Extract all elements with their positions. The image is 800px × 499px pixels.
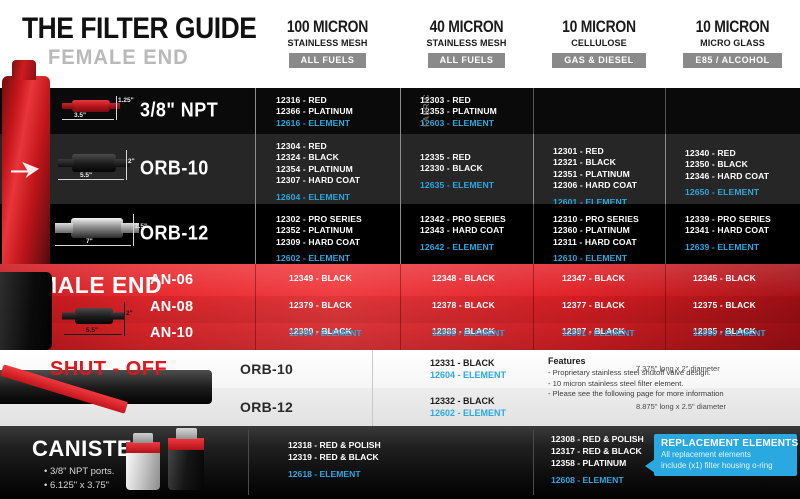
cell-10-micron-cellulose: [553, 88, 665, 134]
table-row-an-06: AN-06 12349 - BLACK 12348 - BLACK 12347 …: [0, 269, 800, 296]
part-number: 12351 - PLATINUM: [553, 169, 665, 180]
part-number: 12339 - PRO SERIES: [685, 214, 800, 225]
cell-100-micron: 12316 - RED 12366 - PLATINUM 12616 - ELE…: [276, 88, 400, 134]
feature-item: - Proprietary stainless steel shutoff va…: [548, 368, 724, 379]
part-number: 12347 - BLACK: [562, 273, 625, 283]
part-number: 12303 - RED: [420, 95, 533, 106]
row-label: ORB-12: [240, 399, 293, 415]
part-number: 12318 - RED & POLISH: [288, 440, 381, 452]
product-image-orb12-filter: [55, 216, 139, 240]
part-number: 12350 - BLACK: [685, 159, 800, 170]
column-divider: [400, 88, 401, 134]
part-number-element: 12610 - ELEMENT: [553, 253, 665, 264]
part-number: 12321 - BLACK: [553, 157, 665, 168]
column-media-label: STAINLESS MESH: [403, 38, 529, 49]
title-bar: THE FILTER GUIDE FEMALE END 100 MICRON S…: [0, 0, 800, 88]
part-number-element: 12604 - ELEMENT: [430, 370, 506, 380]
cell-40-micron: 12335 - RED 12330 - BLACK 12635 - ELEMEN…: [420, 134, 533, 204]
part-number: 12335 - RED: [420, 152, 533, 163]
row-label: AN-10: [150, 325, 193, 341]
male-end-section: MALE END AN-06 12349 - BLACK 12348 - BLA…: [0, 264, 800, 350]
dimension-diameter: 2": [126, 310, 133, 317]
table-row-orb-10: ORB-10 12304 - RED 12324 - BLACK 12354 -…: [0, 134, 800, 204]
part-number-element: 12604 - ELEMENT: [276, 192, 400, 203]
part-number: 12324 - BLACK: [276, 152, 400, 163]
column-micron-label: 10 MICRON: [677, 18, 788, 35]
cell-10-micron-micro-glass: 12340 - RED 12350 - BLACK 12346 - HARD C…: [685, 134, 800, 204]
column-divider: [372, 350, 373, 426]
part-number: 12310 - PRO SERIES: [553, 214, 665, 225]
cell-40-micron: FABRIC 12303 - RED 12353 - PLATINUM 1260…: [420, 88, 533, 134]
part-number-element: 12602 - ELEMENT: [430, 408, 506, 418]
part-number: 12360 - PLATINUM: [553, 225, 665, 236]
part-number: 12378 - BLACK: [432, 300, 495, 310]
part-number: 12307 - HARD COAT: [276, 175, 400, 186]
features-title: Features: [548, 356, 724, 366]
part-number: 12311 - HARD COAT: [553, 237, 665, 248]
part-number-element: 12650 - ELEMENT: [685, 187, 800, 198]
column-divider: [533, 430, 534, 495]
features-block: Features - Proprietary stainless steel s…: [548, 356, 724, 400]
part-number: 12316 - RED: [276, 95, 400, 106]
cell-40-micron: 12342 - PRO SERIES 12343 - HARD COAT 126…: [420, 204, 533, 264]
part-number: 12319 - RED & BLACK: [288, 452, 379, 464]
cell-10-micron-micro-glass: [685, 88, 800, 134]
part-number-element: 12618 - ELEMENT: [288, 469, 361, 481]
row-label: 3/8" NPT: [140, 100, 218, 123]
replacement-elements-callout: REPLACEMENT ELEMENTS All replacement ele…: [654, 434, 797, 476]
part-number: 12354 - PLATINUM: [276, 164, 400, 175]
part-number: 12366 - PLATINUM: [276, 106, 400, 117]
column-micron-label: 10 MICRON: [545, 18, 653, 35]
section-title-female-end: FEMALE END: [48, 46, 189, 70]
product-image-npt-filter: [62, 98, 120, 114]
dimension-length: 5.5": [86, 327, 98, 334]
column-divider: [248, 430, 249, 495]
part-number-element: 12602 - ELEMENT: [276, 253, 400, 264]
column-divider: [665, 134, 666, 204]
dimension-length: 7": [86, 238, 93, 245]
column-divider: [255, 204, 256, 264]
product-image-canister-polish: [126, 442, 160, 490]
part-number: 12331 - BLACK: [430, 358, 495, 368]
column-divider: [400, 134, 401, 204]
part-number-element: 12635 - ELEMENT: [432, 328, 505, 338]
feature-item: - 10 micron stainless steel filter eleme…: [548, 379, 724, 390]
column-divider: [533, 204, 534, 264]
aeromotive-logo-icon: [11, 162, 39, 178]
product-image-orb10-filter: [58, 152, 130, 174]
part-number: 12340 - RED: [685, 148, 800, 159]
part-number: 12309 - HARD COAT: [276, 237, 400, 248]
column-header-100-micron: 100 MICRON STAINLESS MESH ALL FUELS: [255, 18, 400, 68]
column-fuel-badge: GAS & DIESEL: [552, 53, 646, 68]
female-end-table: 3/8" NPT 12316 - RED 12366 - PLATINUM 12…: [0, 88, 800, 264]
column-fuel-badge: ALL FUELS: [289, 53, 367, 68]
product-image-red-canister: [2, 76, 50, 271]
column-fuel-badge: E85 / ALCOHOL: [683, 53, 781, 68]
callout-title: REPLACEMENT ELEMENTS: [661, 438, 791, 449]
column-divider: [665, 88, 666, 134]
part-number: 12301 - RED: [553, 146, 665, 157]
column-divider: [533, 134, 534, 204]
part-number: 12379 - BLACK: [289, 300, 352, 310]
row-label: ORB-10: [140, 158, 209, 181]
part-number-element: 12616 - ELEMENT: [276, 118, 400, 129]
canister-spec: • 3/8" NPT ports.: [44, 466, 114, 477]
column-header-40-micron: 40 MICRON STAINLESS MESH ALL FUELS: [400, 18, 533, 68]
column-divider: [665, 204, 666, 264]
callout-line: include (x1) filter housing o-ring: [661, 461, 791, 471]
part-number: 12306 - HARD COAT: [553, 180, 665, 191]
part-number: 12348 - BLACK: [432, 273, 495, 283]
cell-100-micron: 12302 - PRO SERIES 12352 - PLATINUM 1230…: [276, 204, 400, 264]
column-divider: [400, 204, 401, 264]
part-number: 12375 - BLACK: [693, 300, 756, 310]
filter-guide-page: THE FILTER GUIDE FEMALE END 100 MICRON S…: [0, 0, 800, 499]
part-number-element: 12603 - ELEMENT: [420, 118, 533, 129]
column-divider: [533, 88, 534, 134]
row-label: ORB-12: [140, 223, 209, 246]
column-header-10-micron-cellulose: 10 MICRON CELLULOSE GAS & DIESEL: [533, 18, 665, 68]
column-micron-label: 40 MICRON: [412, 18, 521, 35]
part-number: 12341 - HARD COAT: [685, 225, 800, 236]
part-number: 12345 - BLACK: [693, 273, 756, 283]
cell-100-micron: 12304 - RED 12324 - BLACK 12354 - PLATIN…: [276, 134, 400, 204]
column-media-label: CELLULOSE: [536, 38, 661, 49]
shut-off-section: SHUT - OFF ORB-10 12331 - BLACK 12604 - …: [0, 350, 800, 426]
part-number: 12353 - PLATINUM: [420, 106, 533, 117]
part-number-element: 12639 - ELEMENT: [685, 242, 800, 253]
part-number: 12332 - BLACK: [430, 396, 495, 406]
column-divider: [255, 134, 256, 204]
dimension-length: 5.5": [80, 172, 92, 179]
dimension-diameter: 1.25": [118, 97, 134, 104]
dimension-text: 8.875" long x 2.5" diameter: [636, 402, 726, 411]
part-number-element: 12650 - ELEMENT: [693, 328, 766, 338]
dimension-diameter: 2": [128, 158, 135, 165]
callout-line: All replacement elements: [661, 450, 791, 460]
part-number: 12342 - PRO SERIES: [420, 214, 533, 225]
part-number: 12377 - BLACK: [562, 300, 625, 310]
cell-10-micron-cellulose: 12301 - RED 12321 - BLACK 12351 - PLATIN…: [553, 134, 665, 204]
part-number: 12358 - PLATINUM: [551, 458, 626, 470]
part-number-element: 12635 - ELEMENT: [420, 180, 533, 191]
part-number-element: 12604 - ELEMENT: [289, 328, 362, 338]
cell-10-micron-micro-glass: 12339 - PRO SERIES 12341 - HARD COAT 126…: [685, 204, 800, 264]
part-number-element: 12642 - ELEMENT: [420, 242, 533, 253]
product-image-canister-black: [168, 438, 204, 490]
column-divider: [255, 88, 256, 134]
part-number: 12304 - RED: [276, 141, 400, 152]
column-media-label: STAINLESS MESH: [259, 38, 397, 49]
part-number: 12302 - PRO SERIES: [276, 214, 400, 225]
part-number-element: 12608 - ELEMENT: [551, 475, 624, 487]
column-fuel-badge: ALL FUELS: [428, 53, 506, 68]
dimension-diameter: 2.5": [135, 223, 147, 230]
cell-10-micron-cellulose: 12310 - PRO SERIES 12360 - PLATINUM 1231…: [553, 204, 665, 264]
page-title: THE FILTER GUIDE: [22, 12, 256, 46]
part-number: 12352 - PLATINUM: [276, 225, 400, 236]
part-number: 12308 - RED & POLISH: [551, 434, 644, 446]
column-header-10-micron-micro-glass: 10 MICRON MICRO GLASS E85 / ALCOHOL: [665, 18, 800, 68]
table-row-an-10: AN-10 12389 - BLACK 12388 - BLACK 12387 …: [0, 322, 800, 349]
feature-item: - Please see the following page for more…: [548, 389, 724, 400]
row-label: AN-08: [150, 299, 193, 315]
section-title-shut-off: SHUT - OFF: [50, 358, 167, 381]
part-number-element: 12601 - ELEMENT: [562, 328, 635, 338]
fabric-tag: FABRIC: [422, 94, 431, 127]
table-row-orb-12: ORB-12 12302 - PRO SERIES 12352 - PLATIN…: [0, 204, 800, 264]
part-number: 12317 - RED & BLACK: [551, 446, 642, 458]
dimension-length: 3.5": [74, 112, 86, 119]
column-micron-label: 100 MICRON: [268, 18, 387, 35]
part-number: 12330 - BLACK: [420, 163, 533, 174]
table-row-npt: 3/8" NPT 12316 - RED 12366 - PLATINUM 12…: [0, 88, 800, 134]
part-number: 12346 - HARD COAT: [685, 171, 800, 182]
part-number: 12349 - BLACK: [289, 273, 352, 283]
column-media-label: MICRO GLASS: [668, 38, 796, 49]
part-number: 12343 - HARD COAT: [420, 225, 533, 236]
canister-spec: • 6.125" x 3.75": [44, 480, 109, 491]
product-image-male-filter: [62, 306, 124, 326]
product-image-an-fitting: [0, 272, 52, 350]
row-label: ORB-10: [240, 361, 293, 377]
row-label: AN-06: [150, 272, 193, 288]
